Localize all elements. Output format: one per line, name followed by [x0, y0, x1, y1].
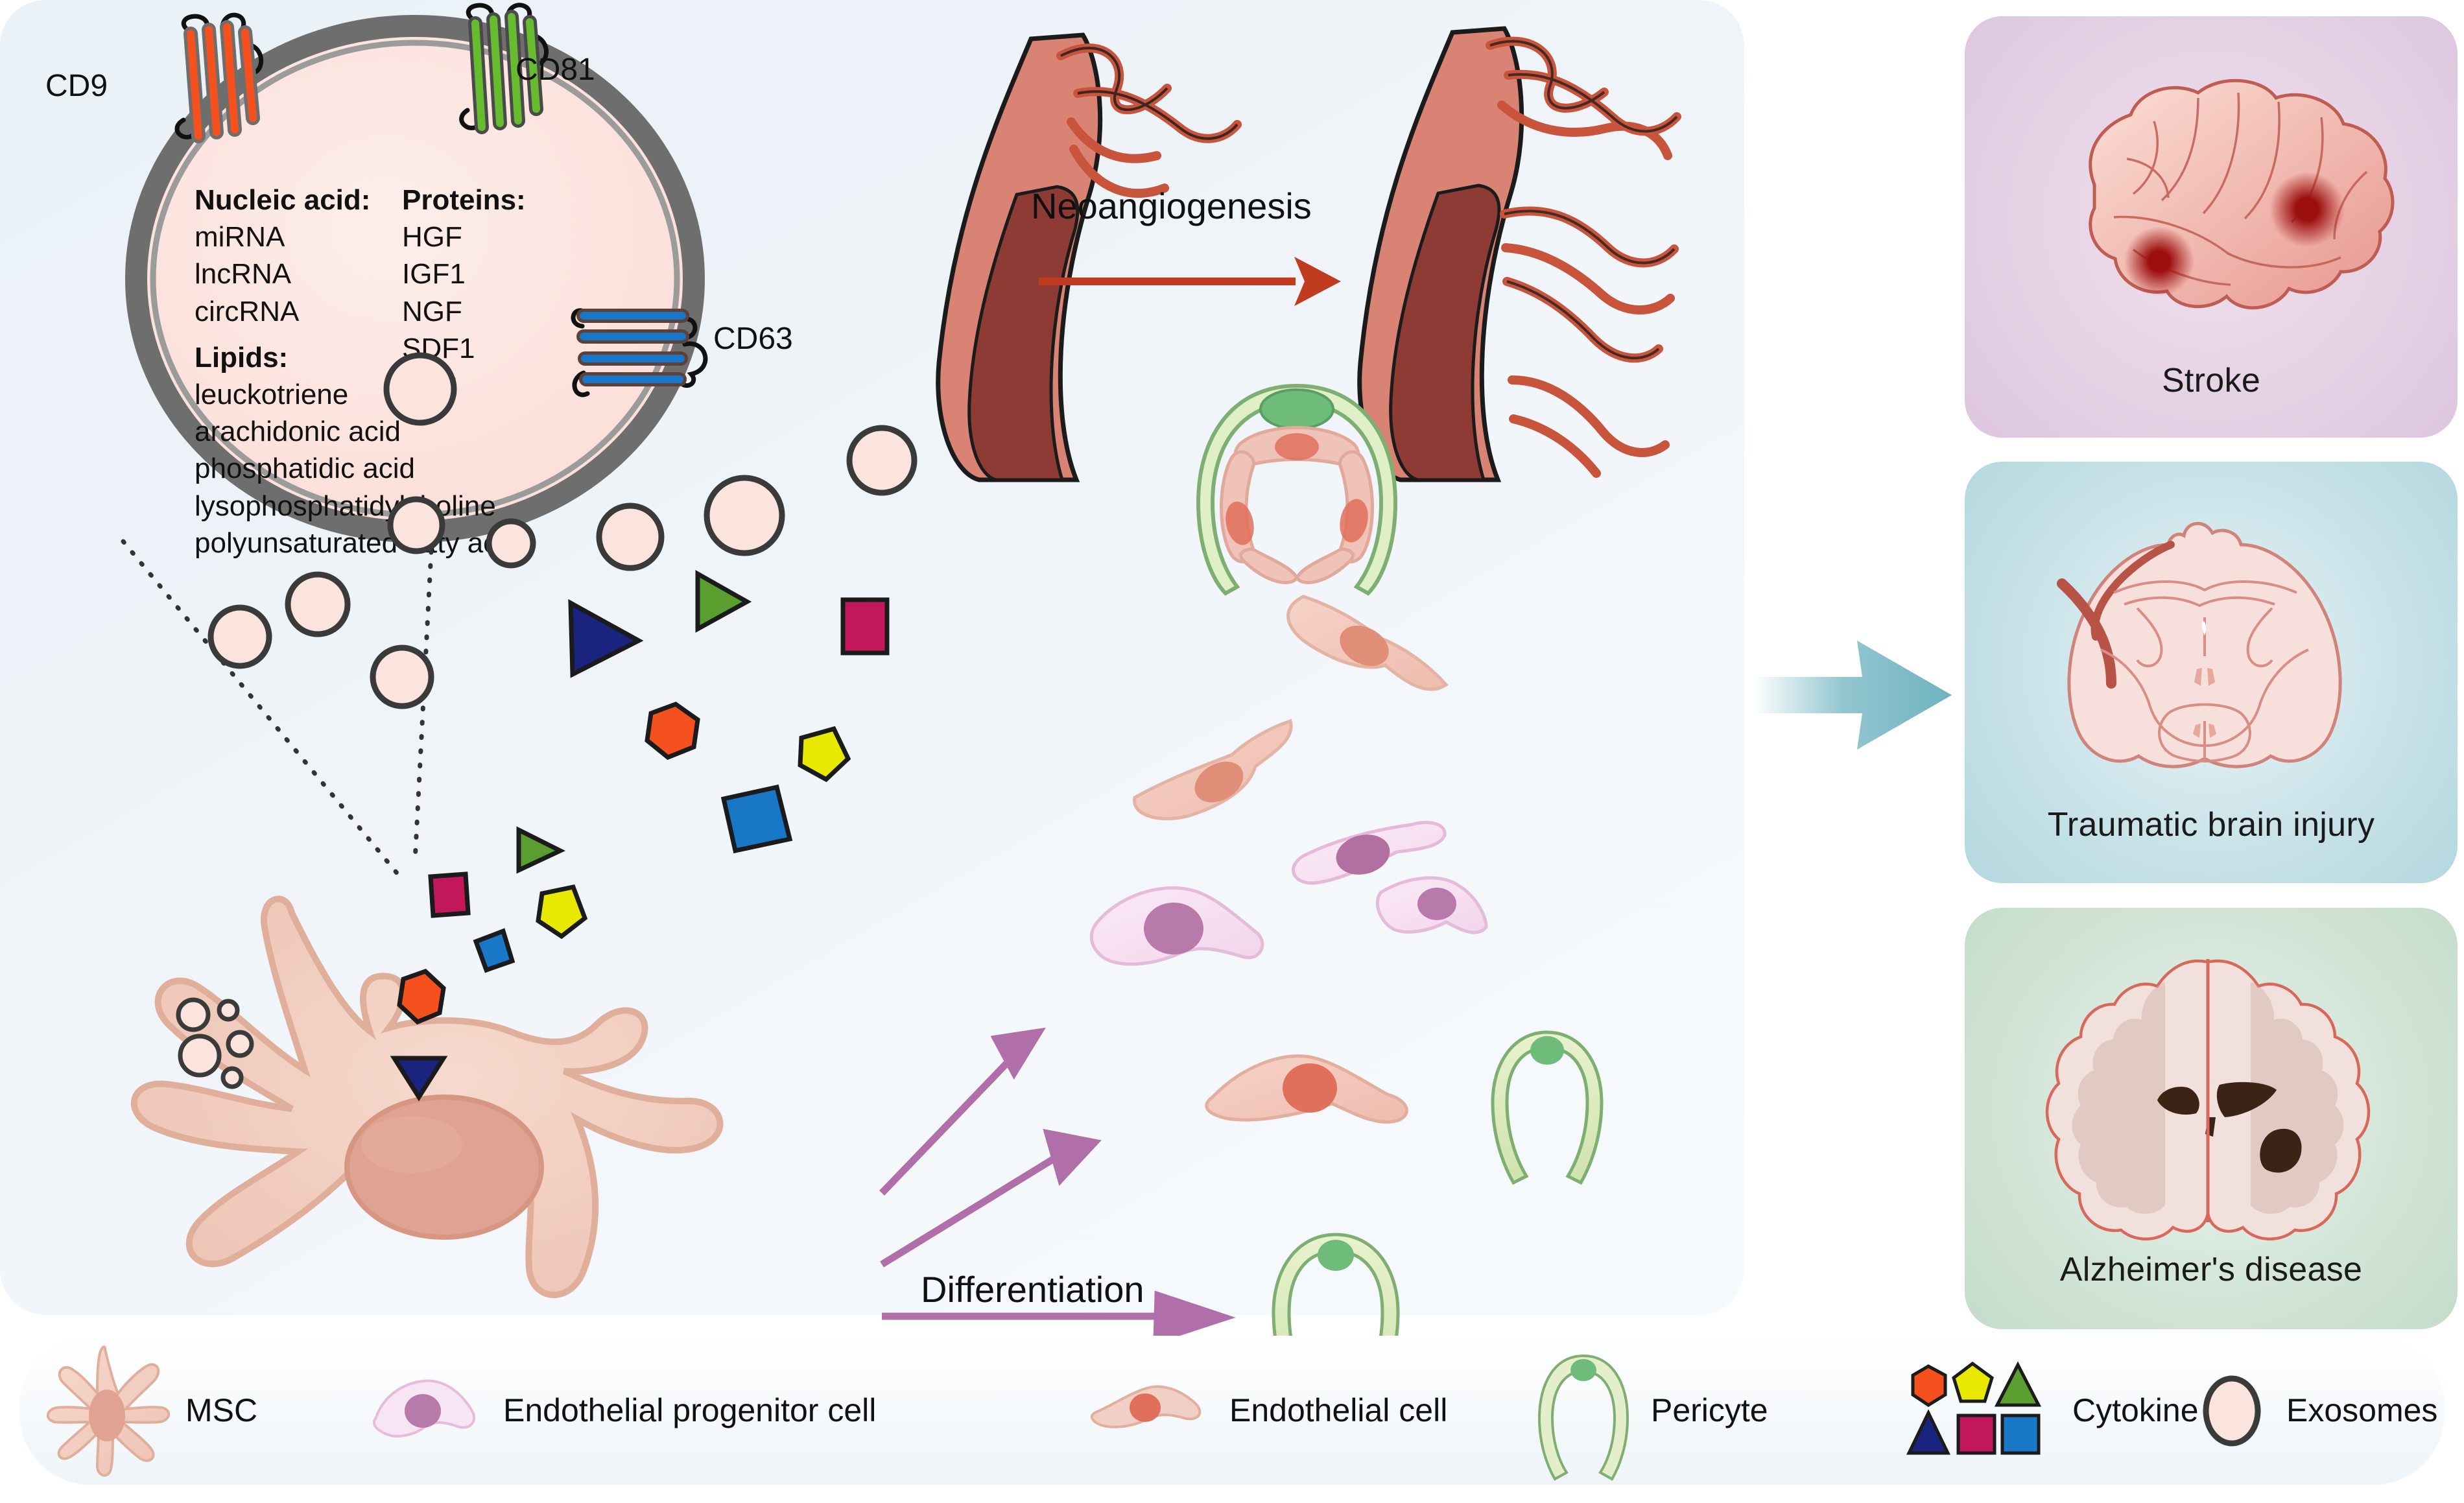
cd81-label: CD81 [515, 52, 595, 88]
legend-item-exosomes[interactable]: Exosomes [2198, 1336, 2437, 1485]
legend-item-ec[interactable]: Endothelial cell [1089, 1336, 1447, 1485]
exosome-circle [373, 648, 431, 706]
cd9-receptor-icon [161, 6, 278, 156]
endothelial-progenitor-cell [1377, 878, 1486, 932]
navy-triangle-icon [571, 603, 639, 674]
coronal-brain-tbi-icon [2010, 507, 2412, 786]
disease-card-label: Traumatic brain injury [1965, 805, 2458, 844]
endothelial-cell-icon [1089, 1365, 1213, 1456]
yellow-pentagon-icon [800, 729, 848, 779]
legend-item-epc[interactable]: Endothelial progenitor cell [363, 1336, 876, 1485]
orange-hexagon-icon [1913, 1366, 1945, 1405]
msc-cell-icon [45, 1345, 169, 1475]
legend-bar: MSC Endothelial progenitor cell Endothel… [19, 1336, 2445, 1485]
exosome-circle [390, 499, 442, 551]
protein-item-1: IGF1 [402, 255, 597, 292]
cd9-label: CD9 [45, 68, 108, 104]
legend-item-pericyte[interactable]: Pericyte [1537, 1336, 1768, 1485]
msc-nucleus [347, 1097, 541, 1237]
navy-triangle-icon [1909, 1413, 1948, 1453]
protein-item-2: NGF [402, 293, 597, 330]
lateral-brain-icon [2004, 55, 2419, 347]
disease-card-stroke[interactable]: Stroke [1965, 16, 2458, 438]
exosome-circle [489, 521, 533, 565]
green-triangle-icon [1997, 1365, 2039, 1405]
big-teal-arrow [1751, 622, 1965, 772]
legend-label: Pericyte [1651, 1391, 1768, 1429]
blue-square-icon [724, 787, 790, 851]
exosome-circle [849, 428, 914, 493]
exosome-circle [386, 355, 454, 423]
exosome-circle [211, 608, 269, 666]
legend-label: Cytokine [2072, 1391, 2199, 1429]
legend-label: MSC [185, 1391, 257, 1429]
differentiation-label: Differentiation [921, 1268, 1144, 1310]
protein-item-0: HGF [402, 219, 597, 255]
legend-item-msc[interactable]: MSC [45, 1336, 257, 1485]
pericyte-nucleus [1261, 390, 1333, 429]
infarct-lesion [2269, 172, 2345, 247]
proteins-heading: Proteins: [402, 182, 597, 219]
endothelial-progenitor-cell-icon [363, 1355, 486, 1465]
neoangiogenesis-label: Neoangiogenesis [1031, 185, 1312, 227]
endothelial-cell [1135, 721, 1292, 819]
magenta-square-icon [431, 874, 468, 916]
yellow-pentagon-icon [1954, 1364, 1992, 1401]
magenta-square-icon [1958, 1415, 1995, 1453]
cytokine-shapes-icon [1900, 1345, 2055, 1475]
infarct-lesion [2124, 226, 2194, 296]
endothelial-cell [1288, 597, 1446, 689]
coronal-brain-atrophy-icon [2013, 943, 2409, 1235]
orange-hexagon-icon [647, 704, 698, 757]
blue-square-icon [2002, 1415, 2039, 1453]
cd63-label: CD63 [713, 321, 793, 357]
main-diagram-panel: CD9 CD81 [0, 0, 1744, 1315]
legend-label: Endothelial progenitor cell [503, 1391, 876, 1429]
exosome-circle [599, 506, 661, 568]
legend-label: Exosomes [2286, 1391, 2437, 1429]
legend-item-cytokine[interactable]: Cytokine [1900, 1336, 2199, 1485]
pericyte-icon [1537, 1345, 1634, 1475]
magenta-square-icon [843, 600, 887, 653]
exosome-circle [288, 574, 348, 634]
legend-label: Endothelial cell [1229, 1391, 1447, 1429]
budding-exosomes [162, 979, 331, 1102]
disease-card-label: Stroke [1965, 361, 2458, 400]
differentiation-arrows [869, 849, 1388, 1316]
disease-card-tbi[interactable]: Traumatic brain injury [1965, 462, 2458, 883]
neoangiogenesis-arrow [1036, 252, 1360, 310]
disease-card-label: Alzheimer's disease [1965, 1250, 2458, 1289]
exosome-icon [2198, 1368, 2269, 1452]
pericyte [1493, 1032, 1602, 1183]
green-triangle-icon [698, 574, 747, 629]
disease-card-ad[interactable]: Alzheimer's disease [1965, 908, 2458, 1329]
exosome-circle [707, 478, 782, 553]
